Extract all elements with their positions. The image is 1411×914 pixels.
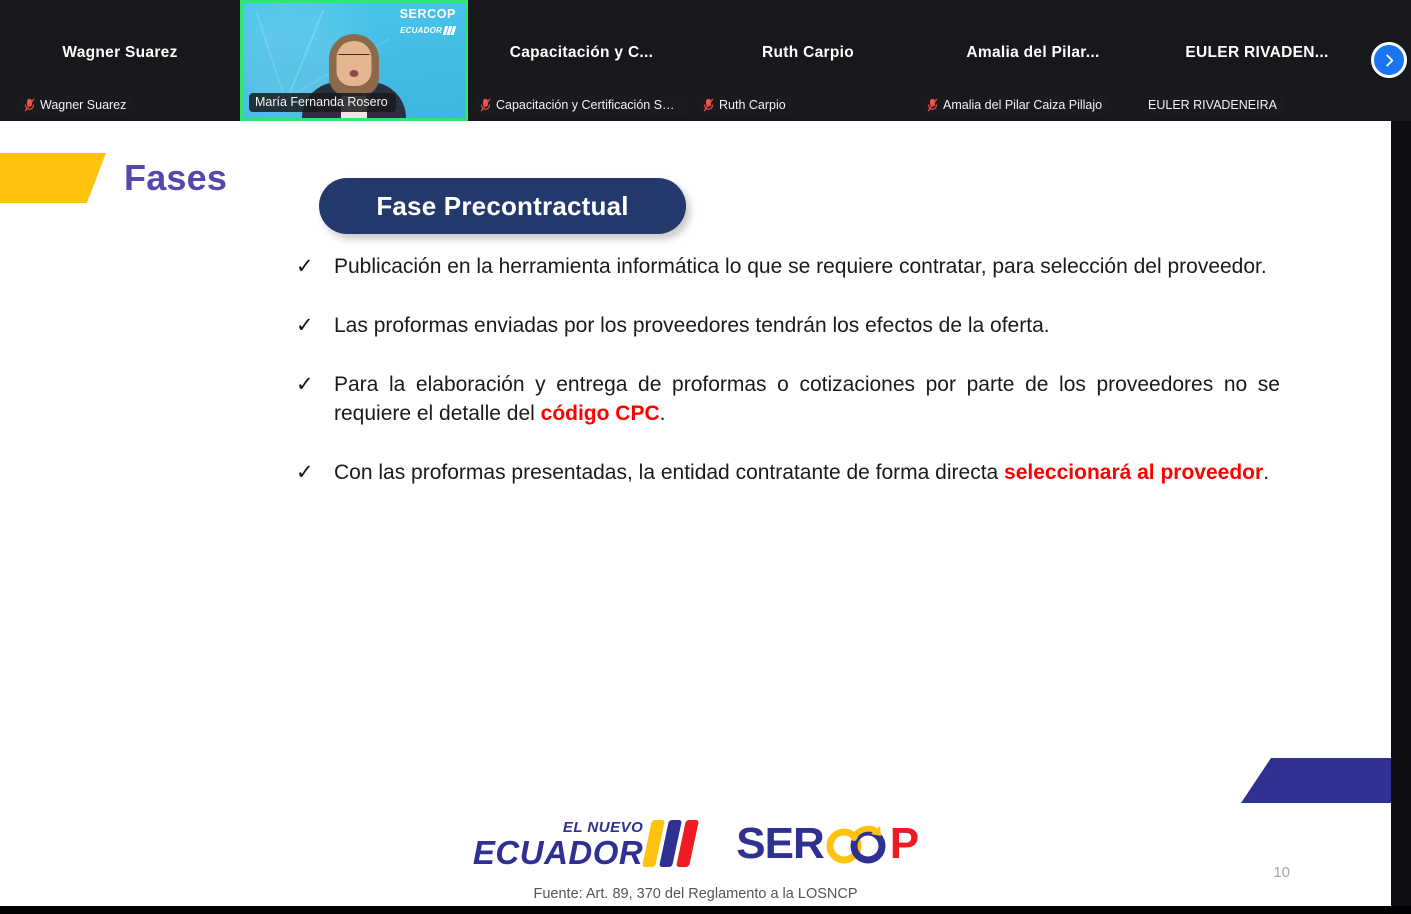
microphone-muted-icon: [703, 98, 714, 112]
title-accent-tab: [0, 153, 106, 203]
participant-tile-0[interactable]: Wagner Suarez Wagner Suarez: [0, 0, 240, 121]
sercop-watermark: SERCOP: [400, 7, 456, 21]
participant-display-name: EULER RIVADEN...: [1145, 44, 1369, 62]
participant-chip-label: EULER RIVADENEIRA: [1148, 98, 1277, 112]
participant-tile-3[interactable]: Ruth Carpio Ruth Carpio: [695, 0, 921, 121]
bullet-proformas-efectos: ✓Las proformas enviadas por los proveedo…: [296, 311, 1280, 340]
participant-name-chip: Wagner Suarez: [18, 96, 134, 115]
checkmark-icon: ✓: [296, 370, 334, 399]
sercop-logo-co-icon: [824, 822, 890, 866]
participant-chip-label: Amalia del Pilar Caiza Pillajo: [943, 98, 1102, 112]
participant-tile-2[interactable]: Capacitación y C... Capacitación y Certi…: [468, 0, 695, 121]
bullet-text: Con las proformas presentadas, la entida…: [334, 458, 1280, 487]
microphone-muted-icon: [480, 98, 491, 112]
participant-filmstrip: Wagner Suarez Wagner Suarez SERCOP ECUAD…: [0, 0, 1411, 121]
chevron-right-icon: [1382, 53, 1397, 68]
participant-name-chip: Capacitación y Certificación Serc…: [474, 96, 689, 115]
participant-name-chip: Ruth Carpio: [697, 96, 794, 115]
participant-display-name: Ruth Carpio: [695, 44, 921, 62]
bullet-text: Para la elaboración y entrega de proform…: [334, 370, 1280, 428]
participant-name-chip: María Fernanda Rosero: [249, 93, 396, 112]
microphone-muted-icon: [24, 98, 35, 112]
participant-display-name: Amalia del Pilar...: [921, 44, 1145, 62]
participant-name-chip: EULER RIVADENEIRA: [1145, 96, 1285, 115]
participant-display-name: Wagner Suarez: [0, 44, 240, 62]
sercop-logo-part1: SER: [736, 819, 823, 869]
participant-display-name: Capacitación y C...: [468, 44, 695, 62]
bottom-black-strip: [0, 906, 1411, 914]
checkmark-icon: ✓: [296, 311, 334, 340]
ecuador-logo: EL NUEVO ECUADOR: [473, 820, 694, 869]
bullet-publicacion: ✓Publicación en la herramienta informáti…: [296, 252, 1280, 281]
ecuador-flag-icon: [647, 820, 694, 869]
bullet-text: Las proformas enviadas por los proveedor…: [334, 311, 1280, 340]
ecuador-watermark: ECUADOR: [400, 26, 455, 35]
source-note: Fuente: Art. 89, 370 del Reglamento a la…: [0, 886, 1391, 902]
bullet-list: ✓Publicación en la herramienta informáti…: [296, 252, 1280, 517]
participant-chip-label: María Fernanda Rosero: [255, 95, 388, 109]
slide-title: Fases: [124, 157, 227, 199]
footer-logos: EL NUEVO ECUADOR SER P: [0, 819, 1391, 869]
next-participants-page-button[interactable]: [1371, 42, 1407, 78]
shared-screen-slide: Fases Fase Precontractual ✓Publicación e…: [0, 121, 1391, 906]
checkmark-icon: ✓: [296, 458, 334, 487]
microphone-muted-icon: [927, 98, 938, 112]
participant-tile-1-active-speaker[interactable]: SERCOP ECUADOR María Fernanda Rosero: [240, 0, 468, 121]
participant-chip-label: Ruth Carpio: [719, 98, 786, 112]
participant-chip-label: Capacitación y Certificación Serc…: [496, 98, 681, 112]
participant-name-chip: Amalia del Pilar Caiza Pillajo: [921, 96, 1110, 115]
ecuador-logo-tagline: EL NUEVO: [563, 820, 643, 835]
bullet-codigo-cpc: ✓Para la elaboración y entrega de profor…: [296, 370, 1280, 428]
participant-tile-4[interactable]: Amalia del Pilar... Amalia del Pilar Cai…: [921, 0, 1145, 121]
checkmark-icon: ✓: [296, 252, 334, 281]
participant-tile-5[interactable]: EULER RIVADEN... EULER RIVADENEIRA: [1145, 0, 1369, 121]
participant-chip-label: Wagner Suarez: [40, 98, 126, 112]
sercop-logo: SER P: [736, 819, 918, 869]
bullet-seleccion-proveedor: ✓Con las proformas presentadas, la entid…: [296, 458, 1280, 487]
bullet-text: Publicación en la herramienta informátic…: [334, 252, 1280, 281]
sercop-logo-part2: P: [890, 819, 918, 869]
ecuador-logo-name: ECUADOR: [473, 836, 643, 869]
phase-pill: Fase Precontractual: [319, 178, 686, 234]
zoom-meeting-window: Wagner Suarez Wagner Suarez SERCOP ECUAD…: [0, 0, 1411, 914]
phase-pill-label: Fase Precontractual: [376, 191, 628, 222]
corner-wedge-shape: [1241, 758, 1391, 803]
flag-bars-icon: [444, 26, 455, 35]
